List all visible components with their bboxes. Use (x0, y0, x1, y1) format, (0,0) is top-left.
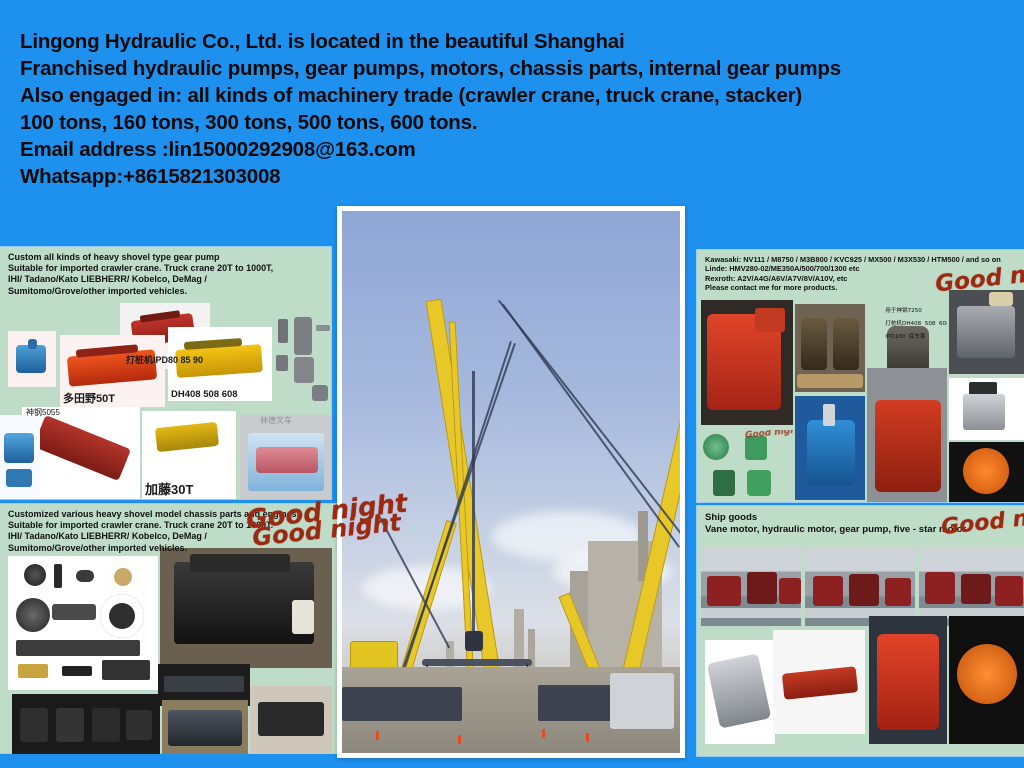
note-line-2: 打桩机DH408 508 608 (885, 321, 947, 327)
note-line-1: 用于神钢7250 (885, 308, 922, 314)
caption-line-2: Vane motor, hydraulic motor, gear pump, … (705, 524, 1020, 536)
panel-bottom-right: Ship goods Vane motor, hydraulic motor, … (697, 506, 1024, 756)
panel-bottom-left: Customized various heavy shovel model ch… (0, 504, 344, 753)
caption-line-2: Linde: HMV280-02/ME350A/500/700/1300 etc (705, 264, 1020, 273)
product-tile-kato-30t: 加藤30T (142, 411, 236, 499)
product-tile-warehouse-rollers (12, 694, 160, 754)
product-tile-blue-pump-b (0, 415, 40, 499)
caption-line-4: Please contact me for more products. (705, 283, 1020, 292)
caption-line-4: Sumitomo/Grove/other imported vehicles. (8, 543, 340, 554)
factory-photo-3 (919, 548, 1024, 626)
panel-top-right-caption: Kawasaki: NV111 / M8750 / M3B800 / KVC92… (705, 255, 1020, 293)
caption-line-3: IHI/ Tadano/Kato LIEBHERR/ Kobelco, DeMa… (8, 531, 340, 542)
header-line-1: Lingong Hydraulic Co., Ltd. is located i… (20, 28, 1024, 55)
header-text-block: Lingong Hydraulic Co., Ltd. is located i… (20, 28, 1024, 190)
note-gearbox-text: 用于神钢7250 打桩机DH408 508 608 IPD100 底车泵 (871, 301, 947, 347)
header-line-5: Email address :lin15000292908@163.com (20, 136, 1024, 163)
product-tile-motors-pallet (795, 304, 865, 392)
header-line-3: Also engaged in: all kinds of machinery … (20, 82, 1024, 109)
label-tadano-50t: 多田野50T (63, 390, 115, 406)
caption-line-2: Suitable for imported crawler crane. Tru… (8, 263, 327, 274)
factory-photo-1 (701, 548, 801, 626)
product-tile-tadano-50t: 多田野50T (60, 335, 165, 407)
product-tile-forklift: 林德叉车 (240, 415, 331, 499)
product-tile-red-gear-pump (773, 630, 865, 734)
caption-line-1: Ship goods (705, 512, 1020, 524)
caption-line-1: Kawasaki: NV111 / M8750 / M3B800 / KVC92… (705, 255, 1020, 264)
product-tile-sprockets (162, 700, 248, 754)
product-tile-red-pump-large (701, 300, 793, 425)
product-tile-blue-motor (795, 396, 865, 500)
product-tile-track-shoes (250, 686, 332, 754)
product-tile-silver-valve (949, 378, 1024, 440)
caption-line-3: IHI/ Tadano/Kato LIEBHERR/ Kobelco, DeMa… (8, 274, 327, 285)
label-piling-machine: 打桩机IPD80 85 90 (126, 353, 203, 366)
panel-top-left-caption: Custom all kinds of heavy shovel type ge… (8, 252, 327, 297)
product-tile-grey-parts (272, 313, 331, 423)
header-line-4: 100 tons, 160 tons, 300 tons, 500 tons, … (20, 109, 1024, 136)
label-kato-30t: 加藤30T (145, 479, 193, 498)
product-tile-red-pump-photo (869, 616, 947, 744)
product-tile-red-pump-mid (867, 368, 947, 502)
panel-top-left: Custom all kinds of heavy shovel type ge… (0, 247, 331, 499)
factory-photo-2 (805, 548, 915, 626)
product-tile-engine (160, 548, 332, 668)
caption-line-2: Suitable for imported crawler crane. Tru… (8, 520, 340, 531)
product-tile-machine-detail (949, 290, 1024, 374)
product-tile-orange-radial-motor (949, 442, 1024, 502)
panel-bottom-left-caption: Customized various heavy shovel model ch… (8, 509, 340, 554)
product-tile-green-parts: Good night (701, 430, 793, 502)
note-line-3: IPD100 底车泵 (885, 334, 925, 340)
product-tile-undercarriage-diagram (8, 556, 158, 690)
label-kobelco-5055: 神钢5055 (26, 409, 60, 416)
product-tile-blue-pump-a (8, 331, 56, 387)
caption-line-1: Customized various heavy shovel model ch… (8, 509, 340, 520)
caption-line-4: Sumitomo/Grove/other imported vehicles. (8, 286, 327, 297)
center-crane-photo-frame (337, 206, 685, 758)
header-line-2: Franchised hydraulic pumps, gear pumps, … (20, 55, 1024, 82)
panel-bottom-right-caption: Ship goods Vane motor, hydraulic motor, … (705, 512, 1020, 536)
product-tile-orange-motor-photo (949, 616, 1024, 744)
caption-line-3: Rexroth: A2V/A4G/A6V/A7V/8V/A10V, etc (705, 274, 1020, 283)
label-dh-series: DH408 508 608 (171, 389, 238, 400)
caption-line-1: Custom all kinds of heavy shovel type ge… (8, 252, 327, 263)
panel-top-right: Kawasaki: NV111 / M8750 / M3B800 / KVC92… (697, 250, 1024, 502)
crawler-crane-photo (342, 211, 680, 753)
header-line-6: Whatsapp:+8615821303008 (20, 163, 1024, 190)
poster-canvas: Lingong Hydraulic Co., Ltd. is located i… (0, 0, 1024, 768)
label-forklift: 林德叉车 (260, 417, 292, 424)
product-tile-starter-motor (705, 640, 775, 744)
